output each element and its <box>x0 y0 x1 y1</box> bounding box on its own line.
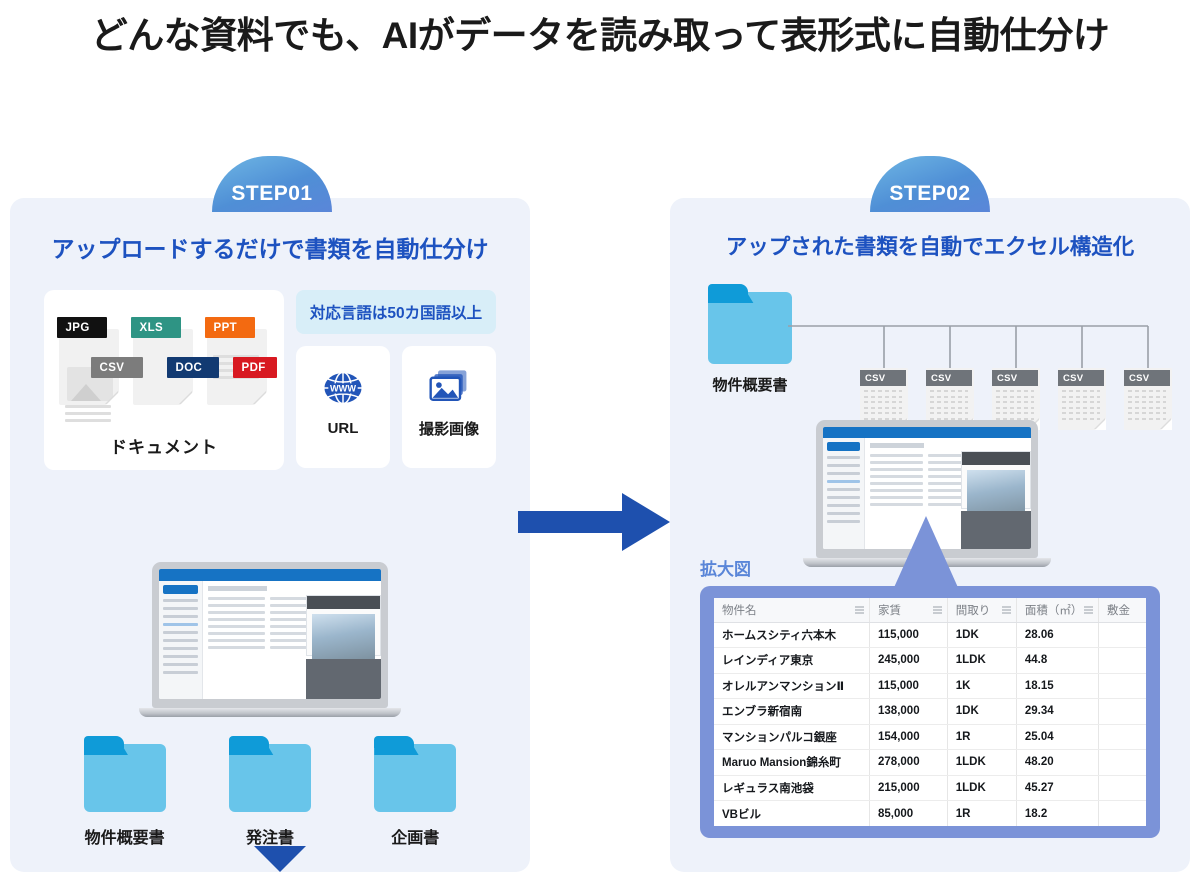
app-sidebar-item[interactable] <box>163 647 198 650</box>
cell-name: ホームスシティ六本木 <box>714 622 870 648</box>
app-sidebar-item[interactable] <box>163 631 198 634</box>
cell-rent: 278,000 <box>870 750 948 776</box>
app-topbar <box>823 427 1031 438</box>
folder-icon <box>374 744 456 812</box>
step-02-panel: アップされた書類を自動でエクセル構造化 物件概要書 CSV CSV <box>670 198 1190 872</box>
step-01-title: アップロードするだけで書類を自動仕分け <box>10 230 530 264</box>
column-header-deposit[interactable]: 敷金 <box>1098 598 1146 622</box>
laptop-lid <box>152 562 388 708</box>
table-row[interactable]: エンブラ新宿南 138,000 1DK 29.34 <box>714 699 1146 725</box>
source-folder[interactable]: 物件概要書 <box>708 292 792 395</box>
cell-deposit <box>1098 648 1146 674</box>
laptop-screen <box>159 569 381 699</box>
step-badge-02: STEP02 <box>870 156 990 212</box>
table-row[interactable]: レインディア東京 245,000 1LDK 44.8 <box>714 648 1146 674</box>
file-tag-csv: CSV <box>91 357 143 378</box>
app-preview-pane <box>961 451 1031 509</box>
csv-lines <box>1128 390 1166 423</box>
cell-deposit <box>1098 622 1146 648</box>
cell-layout: 1LDK <box>947 648 1016 674</box>
csv-file-tag: CSV <box>1124 370 1170 386</box>
file-tag-doc: DOC <box>167 357 219 378</box>
column-header-layout[interactable]: 間取り <box>947 598 1016 622</box>
app-sidebar-item[interactable] <box>163 655 198 658</box>
cell-area: 18.2 <box>1016 801 1098 827</box>
cell-rent: 154,000 <box>870 724 948 750</box>
step-badge-01: STEP01 <box>212 156 332 212</box>
app-sidebar <box>823 438 865 549</box>
cell-layout: 1LDK <box>947 750 1016 776</box>
cell-layout: 1R <box>947 724 1016 750</box>
cell-name: レインディア東京 <box>714 648 870 674</box>
app-sidebar-item[interactable] <box>827 456 860 459</box>
app-sidebar-item[interactable] <box>827 512 860 515</box>
app-primary-button[interactable] <box>163 585 198 594</box>
cell-area: 29.34 <box>1016 699 1098 725</box>
cell-deposit <box>1098 801 1146 827</box>
arrow-down-to-table-icon <box>892 516 960 592</box>
app-sidebar-item-selected[interactable] <box>827 480 860 483</box>
app-sidebar-item[interactable] <box>163 663 198 666</box>
csv-lines <box>864 390 902 423</box>
extracted-table-frame: 物件名 家賃 間取り 面積（㎡） <box>700 586 1160 838</box>
cell-layout: 1DK <box>947 622 1016 648</box>
cell-rent: 138,000 <box>870 699 948 725</box>
csv-lines <box>930 390 968 423</box>
file-tag-jpg: JPG <box>57 317 107 338</box>
app-sidebar-item[interactable] <box>163 671 198 674</box>
csv-file[interactable]: CSV <box>1058 368 1106 430</box>
cell-deposit <box>1098 775 1146 801</box>
cell-deposit <box>1098 724 1146 750</box>
page-title: どんな資料でも、AIがデータを読み取って表形式に自動仕分け <box>0 0 1200 62</box>
document-stack-graphic: JPG XLS PPT CSV DOC PDF <box>57 313 272 433</box>
app-sidebar-item-selected[interactable] <box>163 623 198 626</box>
app-sidebar-item[interactable] <box>163 615 198 618</box>
column-header-rent[interactable]: 家賃 <box>870 598 948 622</box>
folder-label: 発注書 <box>246 824 294 848</box>
document-card: JPG XLS PPT CSV DOC PDF ドキュメント <box>44 290 284 470</box>
table-header-row: 物件名 家賃 間取り 面積（㎡） <box>714 598 1146 622</box>
step-02-title: アップされた書類を自動でエクセル構造化 <box>670 230 1190 261</box>
app-topbar <box>159 569 381 581</box>
cell-area: 25.04 <box>1016 724 1098 750</box>
cell-layout: 1R <box>947 801 1016 827</box>
cell-area: 18.15 <box>1016 673 1098 699</box>
folder-item[interactable]: 企画書 <box>374 744 456 848</box>
column-header-area[interactable]: 面積（㎡） <box>1016 598 1098 622</box>
table-row[interactable]: ホームスシティ六本木 115,000 1DK 28.06 <box>714 622 1146 648</box>
tree-connector-lines <box>788 318 1168 380</box>
upload-right-column: 対応言語は50カ国語以上 <box>296 290 496 470</box>
cell-area: 45.27 <box>1016 775 1098 801</box>
app-preview-image <box>967 470 1025 516</box>
csv-file-tag: CSV <box>860 370 906 386</box>
csv-file-tag: CSV <box>992 370 1038 386</box>
cell-layout: 1LDK <box>947 775 1016 801</box>
cell-deposit <box>1098 699 1146 725</box>
arrow-right-between-steps-icon <box>518 493 670 551</box>
doc-lines <box>65 405 111 426</box>
app-sidebar-item[interactable] <box>163 599 198 602</box>
folder-icon <box>708 292 792 364</box>
app-sidebar-item[interactable] <box>827 472 860 475</box>
language-support-badge: 対応言語は50カ国語以上 <box>296 290 496 334</box>
cell-deposit <box>1098 673 1146 699</box>
table-row[interactable]: オレルアンマンションⅡ 115,000 1K 18.15 <box>714 673 1146 699</box>
file-tag-pdf: PDF <box>233 357 277 378</box>
step-01-panel: アップロードするだけで書類を自動仕分け JPG XLS <box>10 198 530 872</box>
table-body: ホームスシティ六本木 115,000 1DK 28.06 レインディア東京 24… <box>714 622 1146 826</box>
app-sidebar-item[interactable] <box>827 496 860 499</box>
cell-layout: 1K <box>947 673 1016 699</box>
app-main-list <box>203 581 381 699</box>
cell-name: マンションパルコ銀座 <box>714 724 870 750</box>
app-list-header <box>870 443 925 448</box>
cell-deposit <box>1098 750 1146 776</box>
svg-text:WWW: WWW <box>330 383 356 393</box>
globe-www-icon: WWW <box>321 366 365 410</box>
zoom-view-label: 拡大図 <box>700 555 751 580</box>
app-primary-button[interactable] <box>827 442 860 451</box>
app-sidebar-item[interactable] <box>827 504 860 507</box>
app-sidebar-item[interactable] <box>827 520 860 523</box>
table-row[interactable]: Maruo Mansion錦糸町 278,000 1LDK 48.20 <box>714 750 1146 776</box>
filter-lines-icon[interactable] <box>933 606 942 613</box>
cell-area: 44.8 <box>1016 648 1098 674</box>
csv-file-tag: CSV <box>1058 370 1104 386</box>
csv-lines <box>996 390 1034 423</box>
arrow-down-to-folders-icon <box>254 846 306 872</box>
app-sidebar-item[interactable] <box>827 488 860 491</box>
table-row[interactable]: レギュラス南池袋 215,000 1LDK 45.27 <box>714 775 1146 801</box>
photo-card-label: 撮影画像 <box>419 418 479 439</box>
diagram-stage: STEP01 アップロードするだけで書類を自動仕分け JPG <box>0 62 1200 824</box>
app-preview-toolbar <box>307 596 380 609</box>
cell-area: 28.06 <box>1016 622 1098 648</box>
table-row[interactable]: マンションパルコ銀座 154,000 1R 25.04 <box>714 724 1146 750</box>
app-preview-backdrop <box>961 511 1031 549</box>
photo-card: 撮影画像 <box>402 346 496 468</box>
cell-rent: 115,000 <box>870 622 948 648</box>
app-preview-backdrop <box>306 659 381 699</box>
app-body <box>159 581 381 699</box>
app-screenshot <box>159 569 381 699</box>
file-tag-ppt: PPT <box>205 317 255 338</box>
app-list-header <box>208 586 267 591</box>
url-card: WWW URL <box>296 346 390 468</box>
app-sidebar-item[interactable] <box>163 639 198 642</box>
laptop-base <box>139 708 401 717</box>
cell-area: 48.20 <box>1016 750 1098 776</box>
source-folder-label: 物件概要書 <box>712 374 787 395</box>
csv-file-tag: CSV <box>926 370 972 386</box>
app-sidebar-item[interactable] <box>827 464 860 467</box>
url-card-label: URL <box>328 420 359 437</box>
app-sidebar <box>159 581 203 699</box>
column-header-name[interactable]: 物件名 <box>714 598 870 622</box>
cell-rent: 245,000 <box>870 648 948 674</box>
filter-lines-icon[interactable] <box>1002 606 1011 613</box>
cell-rent: 85,000 <box>870 801 948 827</box>
filter-lines-icon[interactable] <box>1084 606 1093 613</box>
filter-lines-icon[interactable] <box>855 606 864 613</box>
cell-name: オレルアンマンションⅡ <box>714 673 870 699</box>
app-preview-image <box>312 614 375 660</box>
csv-file[interactable]: CSV <box>1124 368 1172 430</box>
table-row[interactable]: VBビル 85,000 1R 18.2 <box>714 801 1146 827</box>
upload-sources-row: JPG XLS PPT CSV DOC PDF ドキュメント 対応言語は50カ国… <box>44 290 496 470</box>
app-preview-toolbar <box>962 452 1030 465</box>
document-card-label: ドキュメント <box>110 433 218 458</box>
folder-label: 企画書 <box>391 824 439 848</box>
csv-lines <box>1062 390 1100 423</box>
cell-rent: 215,000 <box>870 775 948 801</box>
photo-stack-icon <box>427 364 471 408</box>
laptop-mockup-left <box>152 562 388 717</box>
file-tag-xls: XLS <box>131 317 181 338</box>
output-folders-row: 物件概要書 発注書 企画書 <box>52 744 488 848</box>
app-preview-pane <box>306 595 381 657</box>
cell-rent: 115,000 <box>870 673 948 699</box>
cell-name: レギュラス南池袋 <box>714 775 870 801</box>
cell-layout: 1DK <box>947 699 1016 725</box>
cell-name: エンブラ新宿南 <box>714 699 870 725</box>
small-source-cards: WWW URL 撮影画像 <box>296 346 496 468</box>
app-sidebar-item[interactable] <box>163 607 198 610</box>
cell-name: Maruo Mansion錦糸町 <box>714 750 870 776</box>
folder-item[interactable]: 発注書 <box>229 744 311 848</box>
property-table: 物件名 家賃 間取り 面積（㎡） <box>714 598 1146 826</box>
cell-name: VBビル <box>714 801 870 827</box>
folder-icon <box>229 744 311 812</box>
folder-item[interactable]: 物件概要書 <box>84 744 166 848</box>
folder-icon <box>84 744 166 812</box>
folder-label: 物件概要書 <box>85 824 165 848</box>
